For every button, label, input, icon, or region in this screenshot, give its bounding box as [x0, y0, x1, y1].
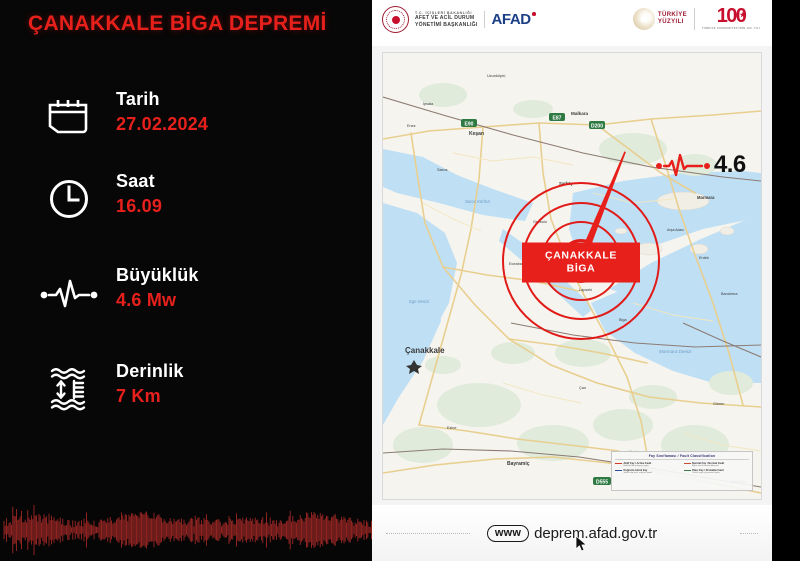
- map-label: Keşan: [469, 131, 484, 137]
- info-row-buyukluk: Büyüklük 4.6 Mw: [30, 262, 350, 326]
- turkiye-yuzyili-logo: TÜRKİYE YÜZYILI: [633, 8, 695, 30]
- afad-logo-group: T.C. İÇİŞLERİ BAKANLIĞI AFET VE ACİL DUR…: [382, 6, 531, 33]
- map-panel: T.C. İÇİŞLERİ BAKANLIĞI AFET VE ACİL DUR…: [372, 0, 772, 561]
- page-title: ÇANAKKALE BİGA DEPREMİ: [28, 12, 348, 37]
- map-label: Avşa Adası: [667, 228, 684, 232]
- info-label-saat: Saat: [116, 170, 162, 193]
- legend-swatch: [684, 463, 691, 464]
- legend-swatch: [615, 470, 622, 471]
- centennial-100-logo: 100 ★ TÜRKİYE CUMHURİYETİ'NİN 100. YILI: [702, 7, 760, 30]
- centennial-logo-group: TÜRKİYE YÜZYILI 100 ★ TÜRKİYE CUMHURİYET…: [633, 7, 760, 30]
- legend-item-desc: Örtülü veya çıkarımsal faylar: [692, 472, 724, 475]
- info-row-derinlik: Derinlik 7 Km: [30, 358, 350, 422]
- map-label: Gelibolu: [533, 220, 547, 224]
- ty-line-2: YÜZYILI: [658, 19, 687, 26]
- info-label-tarih: Tarih: [116, 88, 208, 111]
- map-label: Marmara Denizi: [659, 349, 692, 354]
- afad-wordmark: AFAD: [491, 11, 530, 28]
- info-value-derinlik: 7 Km: [116, 385, 184, 408]
- map-label: Saros: [437, 167, 447, 172]
- map-label: Saros Körfezi: [465, 199, 491, 204]
- map-label: Gönen: [713, 402, 724, 406]
- legend-item-desc: Eğim atımlı normal bileşenli: [692, 465, 724, 468]
- map-label: Ege Denizi: [409, 299, 430, 304]
- crescent-star-icon: ★: [740, 13, 745, 20]
- dotted-rule-left: [386, 533, 470, 534]
- legend-item-desc: Holosen'de çalışmış faylar: [624, 465, 652, 468]
- legend-item: Normal Fay / Normal FaultEğim atımlı nor…: [684, 462, 750, 468]
- svg-text:D555: D555: [596, 480, 608, 486]
- turkiye-yuzyili-text: TÜRKİYE YÜZYILI: [658, 12, 687, 25]
- legend-text: Aktif Fay / Active FaultHolosen'de çalış…: [624, 462, 652, 468]
- ministry-line-2: YÖNETİMİ BAŞKANLIĞI: [415, 22, 477, 28]
- info-row-saat: Saat 16.09: [30, 168, 350, 232]
- depth-icon: [38, 358, 100, 420]
- legend-item-desc: Strike-slip fault, sağ/sol yanal: [624, 472, 652, 475]
- ministry-name: T.C. İÇİŞLERİ BAKANLIĞI AFET VE ACİL DUR…: [415, 11, 485, 28]
- map-label: Erdek: [699, 256, 709, 260]
- legend-title: Fay Sınıflaması / Fault Classification: [615, 454, 749, 460]
- legend-text: Olası Fay / Probable FaultÖrtülü veya çı…: [692, 469, 724, 475]
- legend-item: Doğrultu Atımlı FayStrike-slip fault, sa…: [615, 469, 681, 475]
- map-label: Marmara: [697, 195, 715, 200]
- logo-bar: T.C. İÇİŞLERİ BAKANLIĞI AFET VE ACİL DUR…: [372, 0, 772, 46]
- info-value-saat: 16.09: [116, 195, 162, 218]
- map-label: Malkara: [571, 111, 589, 116]
- map-label: Şarköy: [559, 181, 574, 186]
- info-label-derinlik: Derinlik: [116, 360, 184, 383]
- info-panel: ÇANAKKALE BİGA DEPREMİ Tarih 27.02.2024: [0, 0, 372, 561]
- clock-icon: [38, 168, 100, 230]
- legend-swatch: [615, 463, 622, 464]
- ministry-seal-icon: [382, 6, 409, 33]
- map-label: Bayramiç: [507, 461, 530, 467]
- afad-wordmark-text: AFAD: [491, 11, 530, 28]
- info-label-buyukluk: Büyüklük: [116, 264, 199, 287]
- map-label: Çan: [579, 386, 586, 390]
- info-value-buyukluk: 4.6 Mw: [116, 289, 199, 312]
- centennial-subtitle: TÜRKİYE CUMHURİYETİ'NİN 100. YILI: [702, 27, 760, 30]
- website-footer[interactable]: www deprem.afad.gov.tr: [372, 505, 772, 561]
- waveform-icon: [38, 262, 100, 324]
- legend-text: Normal Fay / Normal FaultEğim atımlı nor…: [692, 462, 724, 468]
- map-label: İpsala: [423, 101, 434, 106]
- pearl-orb-icon: [633, 8, 655, 30]
- legend-items: Aktif Fay / Active FaultHolosen'de çalış…: [615, 462, 749, 475]
- website-url[interactable]: deprem.afad.gov.tr: [534, 525, 657, 542]
- map-label: Lapseki: [579, 288, 592, 292]
- frame-edge-right: [772, 0, 800, 561]
- earthquake-infographic: ÇANAKKALE BİGA DEPREMİ Tarih 27.02.2024: [0, 0, 800, 561]
- cursor-arrow-icon: [575, 535, 589, 553]
- ty-line-1: TÜRKİYE: [658, 12, 687, 19]
- legend-item: Olası Fay / Probable FaultÖrtülü veya çı…: [684, 469, 750, 475]
- map-label: Çanakkale: [405, 346, 445, 355]
- dotted-rule-right: [740, 533, 758, 534]
- map-label: Ezine: [447, 426, 457, 430]
- calendar-icon: [38, 86, 100, 148]
- legend-item: Aktif Fay / Active FaultHolosen'de çalış…: [615, 462, 681, 468]
- map-label: Biga: [619, 318, 627, 322]
- afad-dot-icon: [532, 12, 536, 16]
- ministry-line-1: AFET VE ACİL DURUM: [415, 15, 477, 21]
- map-label: Eceabat: [509, 262, 524, 266]
- map-label: Enez: [407, 124, 416, 128]
- www-badge: www: [487, 525, 529, 542]
- centennial-number: 100 ★: [717, 7, 746, 26]
- svg-text:D200: D200: [591, 124, 603, 130]
- map-label: Bandırma: [721, 292, 738, 296]
- svg-text:E90: E90: [465, 122, 474, 128]
- map-label: Uzunköprü: [487, 74, 505, 78]
- fault-legend: Fay Sınıflaması / Fault Classification A…: [611, 451, 753, 491]
- info-row-tarih: Tarih 27.02.2024: [30, 86, 350, 150]
- legend-swatch: [684, 470, 691, 471]
- map-canvas[interactable]: E90 E87 D200 D555 Marmara DeniziSaros Kö…: [382, 52, 762, 500]
- legend-text: Doğrultu Atımlı FayStrike-slip fault, sa…: [624, 469, 652, 475]
- info-value-tarih: 27.02.2024: [116, 113, 208, 136]
- svg-text:E87: E87: [553, 116, 562, 122]
